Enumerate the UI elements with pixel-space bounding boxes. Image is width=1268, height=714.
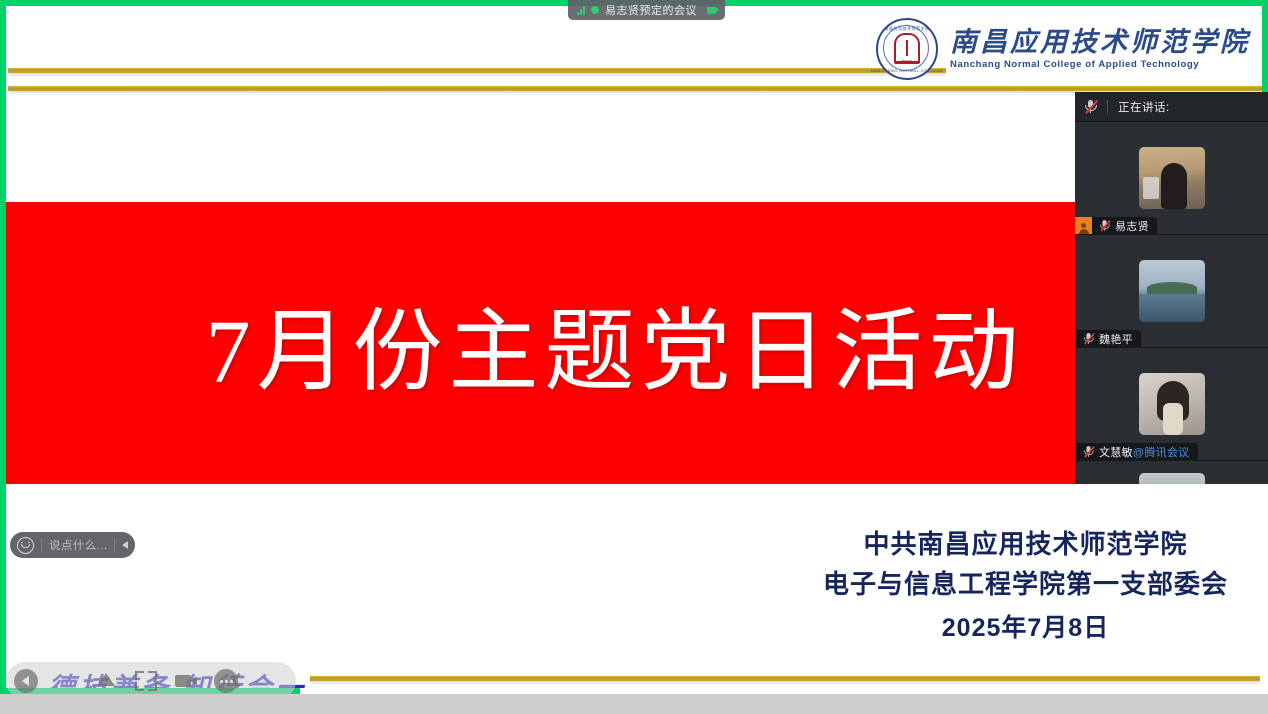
participant-video-panel[interactable]: 正在讲话: 易志贤 魏艳平 文慧敏@腾讯会议 [1075,92,1268,484]
divider [114,539,115,552]
school-name-cn: 南昌应用技术师范学院 [950,28,1250,56]
signature-date: 2025年7月8日 [823,609,1228,648]
school-emblem-icon: 南昌应用技术师范学院 2001 NANCHANG NORMAL COLLEGE [876,18,938,80]
participant-thumbnail-4 [1139,473,1205,484]
emblem-top-text: 南昌应用技术师范学院 [885,26,930,32]
recording-chip-icon[interactable] [707,7,716,14]
school-logo: 南昌应用技术师范学院 2001 NANCHANG NORMAL COLLEGE … [876,18,1250,80]
participant-tile[interactable]: 易志贤 [1075,122,1268,235]
divider [1107,100,1108,114]
emoji-smiley-icon[interactable] [17,537,34,554]
participant-tile[interactable]: 魏艳平 [1075,235,1268,348]
mic-muted-icon [1083,332,1094,344]
signature-line-2: 电子与信息工程学院第一支部委会 [823,564,1228,604]
emblem-year: 2001 [901,60,912,66]
back-arrow-icon[interactable] [14,669,38,693]
slide-title: 7月份主题党日活动 [206,278,1025,408]
participant-tile[interactable] [1075,461,1268,484]
mic-muted-icon [1084,99,1097,114]
signal-bars-icon [577,6,585,15]
school-name-en: Nanchang Normal College of Applied Techn… [950,59,1250,70]
focus-frame-icon[interactable] [134,669,158,693]
participant-name: 易志贤 [1115,218,1149,234]
participant-name-suffix: @腾讯会议 [1133,444,1190,460]
gold-divider-top [8,68,946,73]
divider [41,539,42,552]
mic-muted-icon [1083,445,1094,457]
participant-name: 文慧敏 [1099,444,1133,460]
emblem-bottom-text: NANCHANG NORMAL COLLEGE [871,68,943,73]
signature-line-1: 中共南昌应用技术师范学院 [823,524,1228,564]
participant-tile[interactable]: 文慧敏@腾讯会议 [1075,348,1268,461]
video-camera-icon[interactable] [174,669,198,693]
participant-thumbnail-1 [1139,147,1205,209]
participant-name-tag: 文慧敏@腾讯会议 [1075,443,1198,460]
participant-name: 魏艳平 [1099,331,1133,347]
host-badge-icon [1075,217,1092,234]
share-up-arrow-icon[interactable] [94,669,118,693]
participant-name-tag: 易志贤 [1075,217,1157,234]
chat-input-placeholder[interactable]: 说点什么... [49,537,107,553]
participant-thumbnail-3 [1139,373,1205,435]
collapse-arrow-icon[interactable] [122,541,128,549]
speaking-status-bar: 正在讲话: [1075,92,1268,122]
green-status-dot [591,6,599,14]
mic-muted-icon [1099,219,1110,231]
floating-toolbar[interactable] [6,662,296,700]
gold-divider-bottom [310,676,1260,681]
home-circle-icon[interactable] [54,669,78,693]
school-name-block: 南昌应用技术师范学院 Nanchang Normal College of Ap… [950,28,1250,69]
signature-block: 中共南昌应用技术师范学院 电子与信息工程学院第一支部委会 2025年7月8日 [823,524,1228,647]
meeting-title-text: 易志贤预定的会议 [605,2,697,18]
speaking-label: 正在讲话: [1118,99,1170,115]
meeting-title-bar[interactable]: 易志贤预定的会议 [568,0,725,20]
gold-divider-second [8,86,1262,91]
participant-thumbnail-2 [1139,260,1205,322]
participant-name-tag: 魏艳平 [1075,330,1141,347]
chat-input-bar[interactable]: 说点什么... [10,532,135,558]
